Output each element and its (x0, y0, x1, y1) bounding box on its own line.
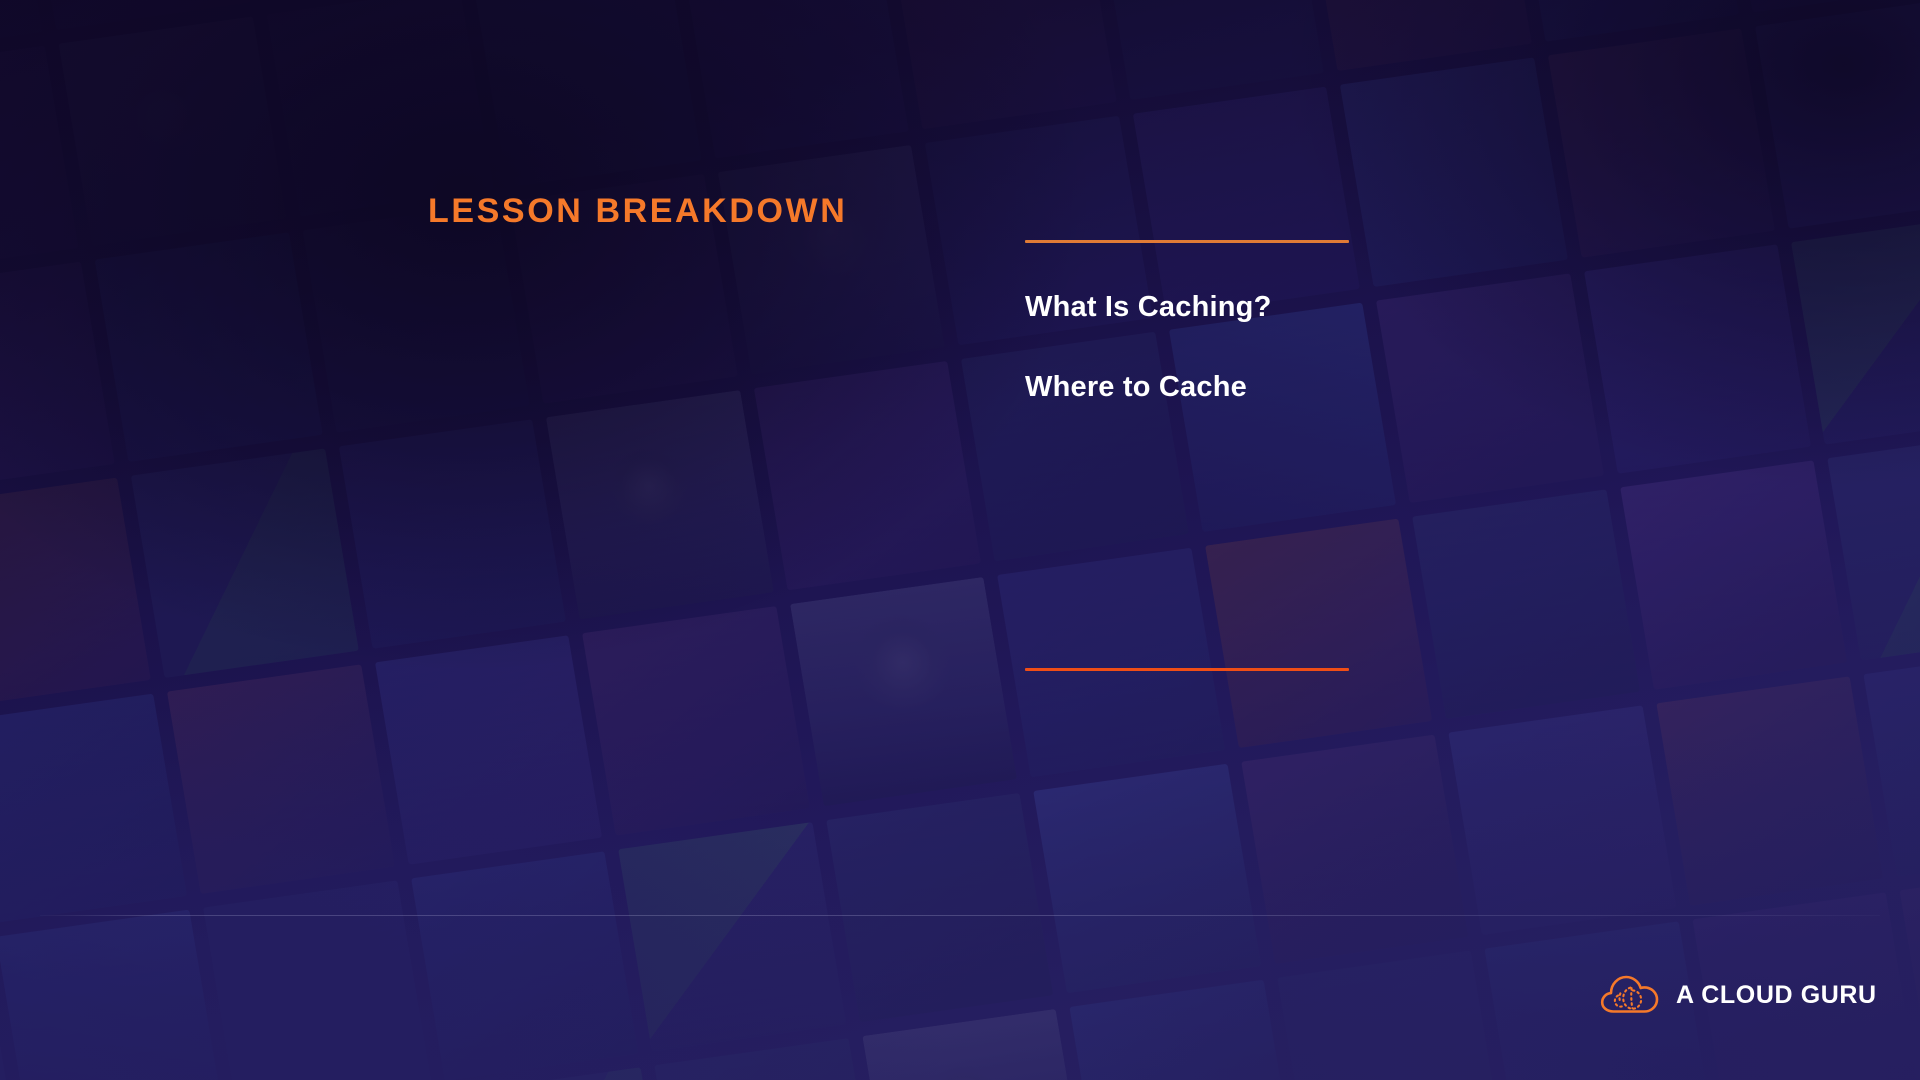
cloud-brain-icon (1600, 972, 1660, 1019)
lesson-topic-list: What Is Caching? Where to Cache (1025, 243, 1349, 668)
list-item: What Is Caching? (1025, 291, 1349, 324)
divider-bottom (1025, 668, 1349, 671)
slide-content: LESSON BREAKDOWN What Is Caching? Where … (0, 0, 1920, 1080)
lesson-breakdown-panel: What Is Caching? Where to Cache (1025, 240, 1349, 671)
page-title: LESSON BREAKDOWN (428, 192, 847, 231)
brand-logo: A CLOUD GURU (1600, 972, 1877, 1019)
list-item: Where to Cache (1025, 371, 1349, 404)
slide-canvas: LESSON BREAKDOWN What Is Caching? Where … (0, 0, 1920, 1080)
brand-name: A CLOUD GURU (1676, 981, 1877, 1010)
footer-divider (40, 915, 1880, 916)
